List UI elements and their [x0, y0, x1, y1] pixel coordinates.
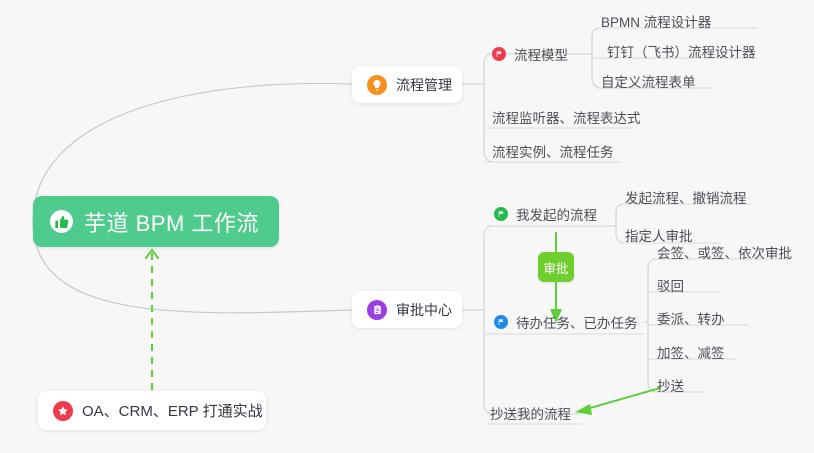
- leaf-label-liucheng-moxing: 流程模型: [514, 44, 568, 64]
- leaf-label-instance-task: 流程实例、流程任务: [492, 141, 614, 161]
- leaf-label-cc: 抄送: [657, 375, 684, 395]
- leaf-liucheng-moxing[interactable]: 流程模型: [492, 43, 568, 65]
- mindmap-canvas: 芋道 BPM 工作流 流程管理 审批中心 流程模型 流程监听器、流程表达式: [0, 0, 814, 453]
- leaf-counter-or-sequential[interactable]: 会签、或签、依次审批: [657, 241, 792, 263]
- lightbulb-icon: [367, 75, 387, 95]
- leaf-listener-expression[interactable]: 流程监听器、流程表达式: [492, 106, 641, 128]
- leaf-custom-form[interactable]: 自定义流程表单: [601, 70, 696, 92]
- leaf-label-start-cancel: 发起流程、撤销流程: [625, 187, 747, 207]
- flag-icon: [494, 207, 508, 221]
- leaf-label-bpmn-designer: BPMN 流程设计器: [601, 11, 711, 31]
- flag-icon: [494, 315, 508, 329]
- flag-icon: [492, 47, 506, 61]
- arrow-cc-to-ccme: [583, 388, 660, 410]
- spine-moxing: [586, 36, 592, 78]
- spine-liuchengguanli: [478, 62, 484, 152]
- leaf-label-listener-expression: 流程监听器、流程表达式: [492, 107, 641, 127]
- leaf-todo-done[interactable]: 待办任务、已办任务: [494, 311, 638, 333]
- leaf-label-reject: 驳回: [657, 275, 684, 295]
- branch-node-liucheng-guanli[interactable]: 流程管理: [352, 66, 462, 103]
- root-node[interactable]: 芋道 BPM 工作流: [33, 196, 279, 247]
- footer-note-label: OA、CRM、ERP 打通实战: [82, 400, 263, 421]
- leaf-label-my-initiated: 我发起的流程: [516, 204, 597, 224]
- leaf-start-cancel[interactable]: 发起流程、撤销流程: [625, 186, 747, 208]
- spine-shenpizhongxin: [478, 235, 484, 404]
- leaf-label-counter-or-sequential: 会签、或签、依次审批: [657, 242, 792, 262]
- clipboard-icon: [367, 300, 387, 320]
- leaf-label-cc-to-me: 抄送我的流程: [490, 403, 571, 423]
- leaf-label-delegate-transfer: 委派、转办: [657, 308, 725, 328]
- spine-shenpi-top: [484, 226, 612, 235]
- leaf-delegate-transfer[interactable]: 委派、转办: [657, 307, 725, 329]
- leaf-label-todo-done: 待办任务、已办任务: [516, 312, 638, 332]
- approval-badge-label: 审批: [543, 258, 568, 277]
- star-icon: [53, 401, 73, 421]
- footer-note-node[interactable]: OA、CRM、ERP 打通实战: [38, 391, 266, 430]
- leaf-dingtalk-feishu-designer[interactable]: 钉钉（飞书）流程设计器: [607, 40, 756, 62]
- thumbs-up-icon: [50, 210, 73, 233]
- approval-badge: 审批: [538, 252, 574, 282]
- leaf-label-add-remove-sign: 加签、减签: [657, 342, 725, 362]
- leaf-instance-task[interactable]: 流程实例、流程任务: [492, 140, 614, 162]
- root-label: 芋道 BPM 工作流: [84, 206, 259, 238]
- leaf-add-remove-sign[interactable]: 加签、减签: [657, 341, 725, 363]
- leaf-my-initiated[interactable]: 我发起的流程: [494, 203, 597, 225]
- leaf-reject[interactable]: 驳回: [657, 274, 684, 296]
- branch-node-shenpi-zhongxin[interactable]: 审批中心: [352, 291, 462, 328]
- branch-label-shenpi-zhongxin: 审批中心: [396, 300, 452, 320]
- arrowhead-cc-to-ccme: [575, 404, 592, 415]
- leaf-label-dingtalk-feishu-designer: 钉钉（飞书）流程设计器: [607, 41, 756, 61]
- leaf-cc-to-me[interactable]: 抄送我的流程: [490, 402, 571, 424]
- arrowhead-footer-to-root: [146, 250, 158, 258]
- branch-label-liucheng-guanli: 流程管理: [396, 75, 452, 95]
- leaf-label-custom-form: 自定义流程表单: [601, 71, 696, 91]
- leaf-bpmn-designer[interactable]: BPMN 流程设计器: [601, 10, 711, 32]
- leaf-cc[interactable]: 抄送: [657, 374, 684, 396]
